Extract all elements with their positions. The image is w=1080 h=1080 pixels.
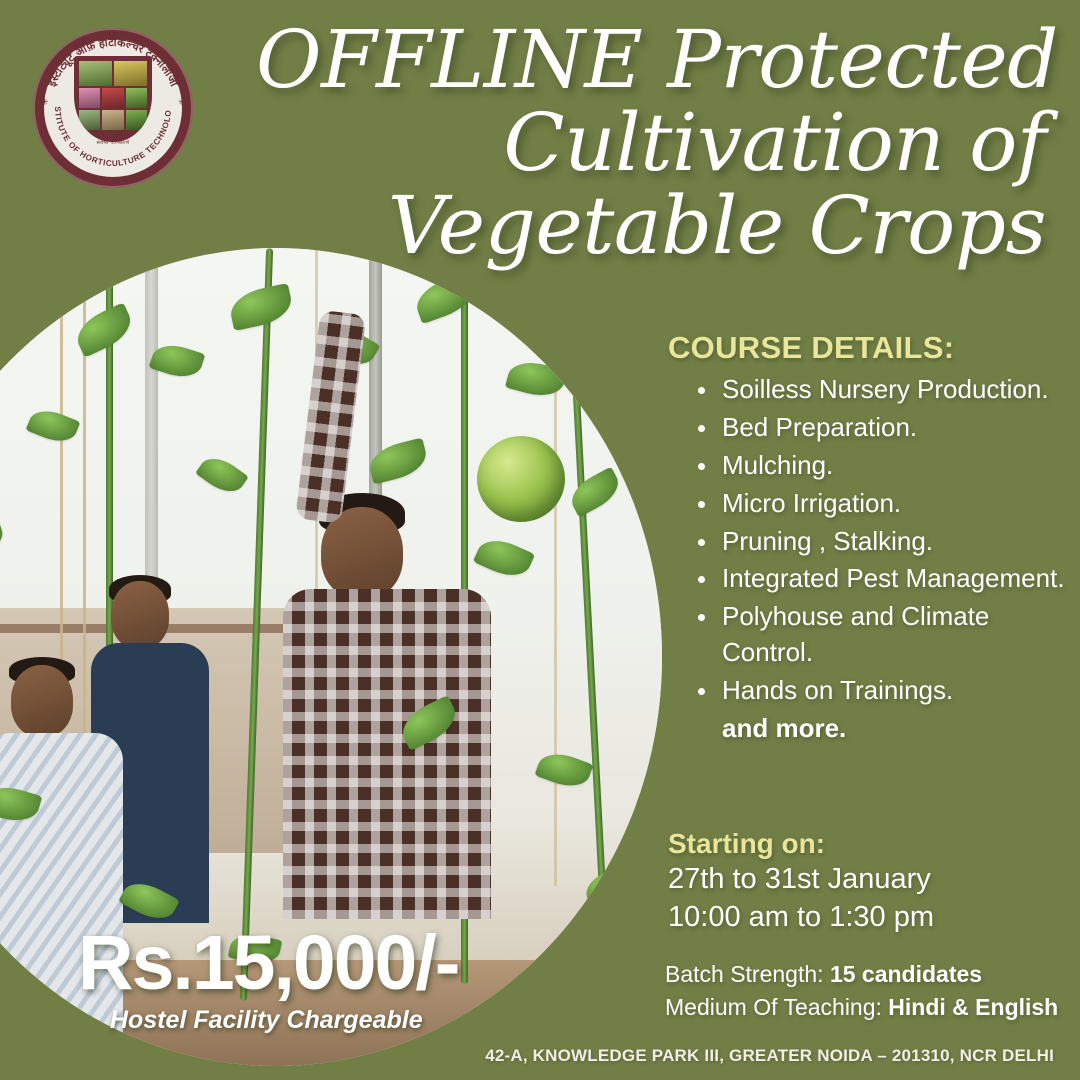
institute-logo: इंस्टीट्यूट ऑफ़ हॉर्टीकल्चर टेक्नोलॉजी I… (33, 28, 193, 188)
medium-of-teaching-row: Medium Of Teaching: Hindi & English (665, 991, 1075, 1024)
logo-photo-cell (79, 88, 100, 108)
list-item: Soilless Nursery Production. (696, 372, 1068, 408)
logo-star-left-icon: ✳ (41, 99, 48, 106)
price-block: Rs.15,000/- Hostel Facility Chargeable (78, 925, 498, 1035)
course-details-closing: and more. (696, 711, 1068, 747)
logo-photo-cell (114, 61, 147, 86)
course-fee: Rs.15,000/- (78, 925, 498, 1002)
logo-photo-cell (126, 88, 147, 108)
course-details-section: COURSE DETAILS: Soilless Nursery Product… (668, 330, 1068, 749)
list-item: Pruning , Stalking. (696, 524, 1068, 560)
schedule-section: Starting on: 27th to 31st January 10:00 … (668, 826, 1068, 936)
list-item: Micro Irrigation. (696, 486, 1068, 522)
logo-motto: सर्वेष्य परिष्करणे (97, 140, 130, 146)
schedule-time: 10:00 am to 1:30 pm (668, 899, 1068, 937)
title-line-1: OFFLINE Protected (256, 18, 1046, 101)
logo-photo-cell (79, 61, 112, 86)
batch-strength-value: 15 candidates (830, 961, 982, 987)
person-torso (283, 589, 491, 919)
batch-strength-row: Batch Strength: 15 candidates (665, 958, 1075, 991)
course-details-heading: COURSE DETAILS: (668, 330, 1068, 366)
schedule-heading: Starting on: (668, 826, 1068, 861)
course-poster: इंस्टीट्यूट ऑफ़ हॉर्टीकल्चर टेक्नोलॉजी I… (0, 0, 1080, 1080)
poster-title: OFFLINE Protected Cultivation of Vegetab… (256, 18, 1046, 268)
hostel-note: Hostel Facility Chargeable (78, 1006, 498, 1035)
list-item: Bed Preparation. (696, 410, 1068, 446)
course-meta-section: Batch Strength: 15 candidates Medium Of … (665, 958, 1075, 1025)
list-item: Integrated Pest Management. (696, 561, 1068, 597)
course-details-list: Soilless Nursery Production. Bed Prepara… (668, 372, 1068, 747)
title-line-2: Cultivation of (256, 101, 1046, 184)
logo-photo-cell (102, 110, 123, 130)
list-item: Mulching. (696, 448, 1068, 484)
list-item: Polyhouse and Climate Control. (696, 599, 1068, 671)
medium-of-teaching-value: Hindi & English (888, 994, 1058, 1020)
logo-star-right-icon: ✳ (178, 99, 185, 106)
logo-photo-cell (102, 88, 123, 108)
medium-of-teaching-label: Medium Of Teaching: (665, 994, 888, 1020)
person-head (11, 665, 73, 737)
batch-strength-label: Batch Strength: (665, 961, 830, 987)
person-head (111, 581, 169, 649)
logo-shield-emblem (74, 56, 152, 142)
trellis-string (554, 248, 557, 886)
schedule-dates: 27th to 31st January (668, 861, 1068, 899)
address-footer: 42-A, KNOWLEDGE PARK III, GREATER NOIDA … (0, 1046, 1054, 1066)
list-item: Hands on Trainings. (696, 673, 1068, 709)
